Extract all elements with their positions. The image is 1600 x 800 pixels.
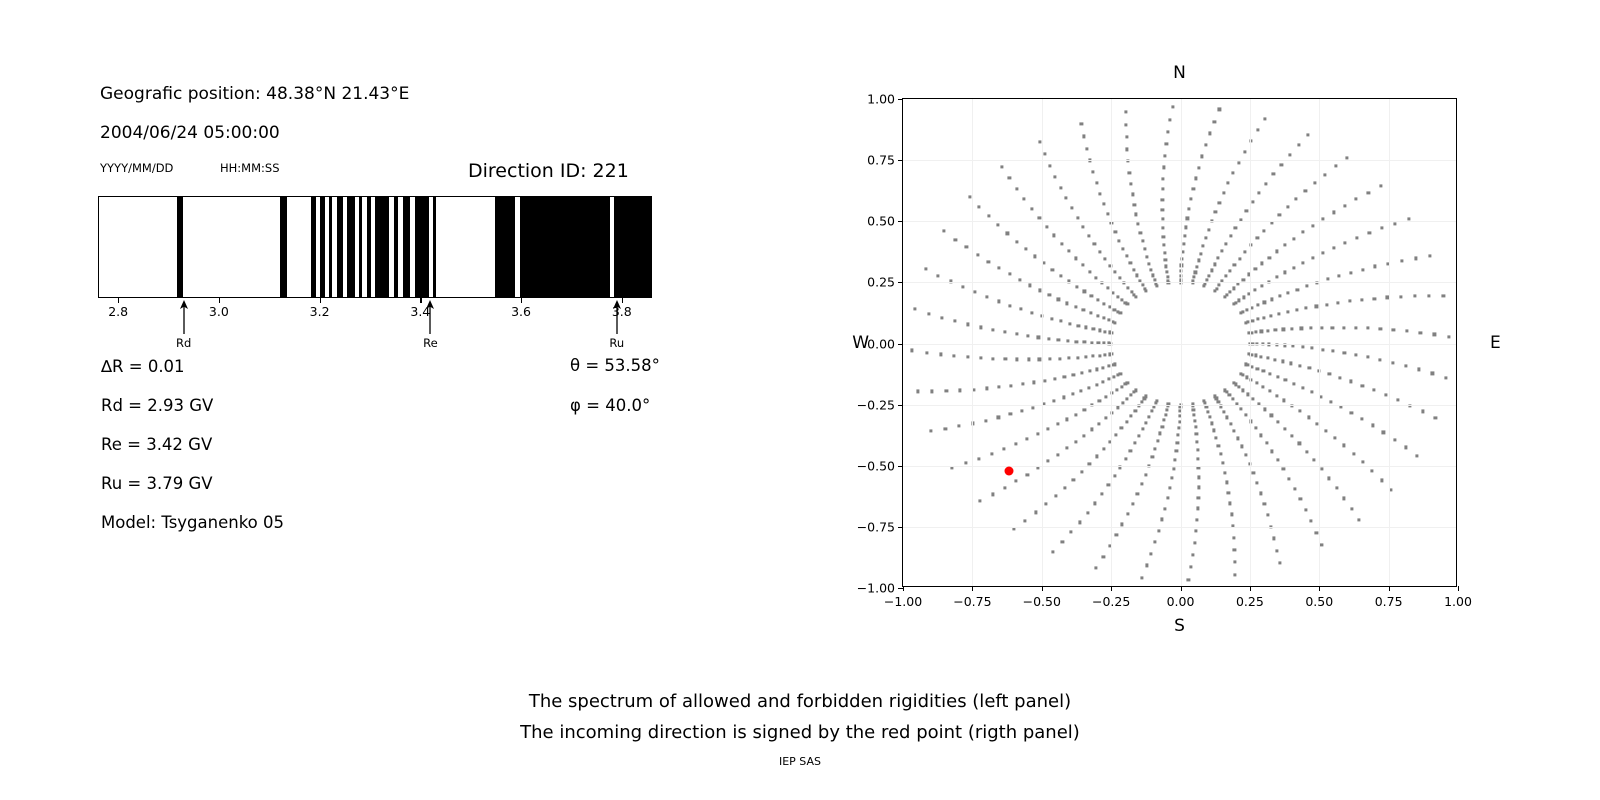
direction-point bbox=[1305, 307, 1308, 310]
grid-line-horizontal bbox=[903, 466, 1456, 467]
direction-point bbox=[1278, 295, 1281, 298]
direction-point bbox=[1004, 358, 1007, 361]
direction-point bbox=[1442, 294, 1445, 297]
direction-point bbox=[1277, 312, 1280, 315]
direction-point bbox=[1301, 261, 1304, 264]
direction-point bbox=[1208, 416, 1211, 419]
direction-point bbox=[1282, 468, 1285, 471]
direction-point bbox=[1372, 388, 1375, 391]
direction-point bbox=[1140, 400, 1143, 403]
direction-point bbox=[1254, 427, 1257, 430]
direction-point bbox=[1166, 131, 1169, 134]
direction-point bbox=[1304, 189, 1307, 192]
direction-point bbox=[1150, 268, 1153, 271]
direction-point bbox=[1278, 214, 1281, 217]
direction-point bbox=[1162, 244, 1165, 247]
forbidden-band bbox=[433, 197, 436, 297]
grid-line-vertical bbox=[972, 99, 973, 586]
direction-point bbox=[1301, 386, 1304, 389]
direction-point bbox=[1311, 256, 1314, 259]
direction-point bbox=[1143, 287, 1146, 290]
direction-point bbox=[1097, 422, 1100, 425]
direction-point bbox=[1165, 408, 1168, 411]
direction-point bbox=[1104, 330, 1107, 333]
forbidden-band bbox=[495, 197, 515, 297]
direction-point bbox=[913, 308, 916, 311]
direction-point bbox=[1166, 497, 1169, 500]
grid-line-vertical bbox=[1111, 99, 1112, 586]
direction-point bbox=[1241, 374, 1244, 377]
direction-point bbox=[1324, 429, 1327, 432]
direction-point bbox=[1133, 203, 1136, 206]
direction-point bbox=[1021, 409, 1024, 412]
direction-point bbox=[1243, 251, 1246, 254]
direction-point bbox=[1298, 442, 1301, 445]
direction-point bbox=[1103, 302, 1106, 305]
direction-point bbox=[1311, 347, 1314, 350]
direction-point bbox=[1379, 358, 1382, 361]
direction-point bbox=[1019, 308, 1022, 311]
direction-point bbox=[1038, 358, 1041, 361]
direction-point bbox=[1233, 574, 1236, 577]
direction-point bbox=[1268, 389, 1271, 392]
direction-point bbox=[1371, 469, 1374, 472]
direction-map-panel: N S W E −1.00−0.75−0.50−0.250.000.250.50… bbox=[820, 40, 1520, 660]
direction-point bbox=[1270, 414, 1273, 417]
direction-point bbox=[1087, 234, 1090, 237]
direction-point bbox=[931, 390, 934, 393]
direction-point bbox=[1056, 453, 1059, 456]
direction-point bbox=[911, 349, 914, 352]
direction-point bbox=[924, 268, 927, 271]
direction-point bbox=[1400, 259, 1403, 262]
direction-point bbox=[1095, 455, 1098, 458]
direction-point bbox=[997, 416, 1000, 419]
direction-point bbox=[1215, 287, 1218, 290]
direction-point bbox=[1018, 278, 1021, 281]
direction-point bbox=[1070, 530, 1073, 533]
direction-point bbox=[985, 295, 988, 298]
direction-point bbox=[1348, 300, 1351, 303]
direction-point bbox=[985, 387, 988, 390]
grid-line-vertical bbox=[1042, 99, 1043, 586]
direction-point bbox=[1099, 192, 1102, 195]
direction-point bbox=[1256, 318, 1259, 321]
direction-point bbox=[1033, 255, 1036, 258]
direction-point bbox=[1258, 191, 1261, 194]
direction-point bbox=[1320, 543, 1323, 546]
direction-point bbox=[1301, 346, 1304, 349]
forbidden-band bbox=[614, 197, 652, 297]
direction-point bbox=[1066, 418, 1069, 421]
direction-point bbox=[1102, 366, 1105, 369]
direction-point bbox=[1283, 271, 1286, 274]
direction-point bbox=[1380, 227, 1383, 230]
direction-point bbox=[1282, 328, 1285, 331]
direction-point bbox=[1038, 141, 1041, 144]
direction-point bbox=[1124, 457, 1127, 460]
direction-point bbox=[1195, 440, 1198, 443]
x-axis-tick bbox=[903, 586, 904, 591]
direction-point bbox=[1194, 529, 1197, 532]
direction-point bbox=[1276, 420, 1279, 423]
direction-point bbox=[1165, 143, 1168, 146]
direction-point bbox=[1343, 351, 1346, 354]
direction-point bbox=[1125, 136, 1128, 139]
direction-point bbox=[1232, 536, 1235, 539]
direction-point bbox=[1295, 309, 1298, 312]
direction-point bbox=[1016, 358, 1019, 361]
direction-point bbox=[1334, 436, 1337, 439]
direction-point bbox=[1195, 433, 1198, 436]
direction-point bbox=[1107, 483, 1110, 486]
direction-point bbox=[1056, 423, 1059, 426]
direction-point bbox=[1260, 434, 1263, 437]
direction-point bbox=[1010, 384, 1013, 387]
y-axis-tick bbox=[898, 99, 903, 100]
direction-point bbox=[1091, 355, 1094, 358]
date-format-hint: YYYY/MM/DD bbox=[100, 161, 173, 175]
direction-point bbox=[1141, 283, 1144, 286]
direction-point bbox=[1177, 434, 1180, 437]
direction-point bbox=[998, 386, 1001, 389]
direction-point bbox=[1130, 415, 1133, 418]
direction-point bbox=[1088, 370, 1091, 373]
direction-point bbox=[1391, 361, 1394, 364]
direction-point bbox=[1350, 411, 1353, 414]
direction-point bbox=[1114, 230, 1117, 233]
direction-point bbox=[1300, 327, 1303, 330]
direction-point bbox=[1296, 288, 1299, 291]
direction-point bbox=[1305, 450, 1308, 453]
param-phi: φ = 40.0° bbox=[570, 396, 650, 415]
direction-point bbox=[1014, 443, 1017, 446]
x-axis-tick-label: 0.25 bbox=[1236, 594, 1264, 609]
direction-point bbox=[940, 316, 943, 319]
direction-point bbox=[1089, 312, 1092, 315]
direction-point bbox=[1043, 379, 1046, 382]
direction-point bbox=[1135, 213, 1138, 216]
direction-point bbox=[1212, 429, 1215, 432]
direction-point bbox=[945, 389, 948, 392]
direction-point bbox=[1015, 187, 1018, 190]
direction-point bbox=[979, 357, 982, 360]
direction-point bbox=[1339, 405, 1342, 408]
x-axis-tick bbox=[1042, 586, 1043, 591]
compass-north-label: N bbox=[1173, 63, 1186, 83]
direction-point bbox=[1131, 502, 1134, 505]
direction-point bbox=[1445, 376, 1448, 379]
direction-point bbox=[1006, 232, 1009, 235]
direction-point bbox=[1368, 231, 1371, 234]
direction-point bbox=[1256, 236, 1259, 239]
direction-point bbox=[1269, 372, 1272, 375]
direction-point bbox=[1332, 349, 1335, 352]
direction-point bbox=[1192, 276, 1195, 279]
direction-point bbox=[1140, 483, 1143, 486]
direction-point bbox=[965, 246, 968, 249]
grid-line-horizontal bbox=[903, 221, 1456, 222]
direction-point bbox=[1230, 513, 1233, 516]
direction-point bbox=[1066, 302, 1069, 305]
direction-point bbox=[1261, 385, 1264, 388]
direction-point bbox=[1256, 129, 1259, 132]
direction-point bbox=[1045, 225, 1048, 228]
direction-point bbox=[1253, 289, 1256, 292]
direction-point bbox=[1213, 120, 1216, 123]
direction-point bbox=[1428, 255, 1431, 258]
direction-point bbox=[1032, 406, 1035, 409]
direction-point bbox=[1215, 436, 1218, 439]
direction-point bbox=[1161, 188, 1164, 191]
direction-point bbox=[1321, 348, 1324, 351]
grid-line-vertical bbox=[1250, 99, 1251, 586]
direction-point bbox=[1197, 457, 1200, 460]
direction-point bbox=[1321, 218, 1324, 221]
direction-point bbox=[1154, 540, 1157, 543]
direction-point bbox=[1244, 453, 1247, 456]
direction-point bbox=[1343, 444, 1346, 447]
direction-point bbox=[954, 320, 957, 323]
direction-point bbox=[1176, 441, 1179, 444]
direction-point bbox=[1067, 250, 1070, 253]
direction-point bbox=[1311, 224, 1314, 227]
direction-point bbox=[1245, 308, 1248, 311]
direction-point bbox=[1254, 268, 1257, 271]
direction-point bbox=[1260, 330, 1263, 333]
x-axis-tick bbox=[1319, 586, 1320, 591]
direction-point bbox=[1350, 507, 1353, 510]
direction-point bbox=[1275, 549, 1278, 552]
direction-point bbox=[1057, 298, 1060, 301]
direction-point bbox=[944, 427, 947, 430]
direction-point bbox=[967, 323, 970, 326]
direction-point bbox=[1337, 274, 1340, 277]
direction-point bbox=[1072, 478, 1075, 481]
direction-point bbox=[1175, 449, 1178, 452]
direction-point bbox=[1125, 255, 1128, 258]
direction-point bbox=[1361, 268, 1364, 271]
direction-point bbox=[927, 312, 930, 315]
x-axis-tick bbox=[1389, 586, 1390, 591]
direction-point bbox=[1280, 163, 1283, 166]
axis-tick bbox=[521, 298, 522, 303]
direction-point bbox=[1263, 229, 1266, 232]
direction-point bbox=[1349, 271, 1352, 274]
compass-south-label: S bbox=[1174, 616, 1185, 636]
y-axis-tick-label: 0.75 bbox=[867, 153, 895, 168]
direction-point bbox=[1217, 256, 1220, 259]
direction-point bbox=[1275, 276, 1278, 279]
direction-point bbox=[1404, 446, 1407, 449]
direction-point bbox=[1384, 393, 1387, 396]
direction-point bbox=[916, 390, 919, 393]
direction-point bbox=[1164, 265, 1167, 268]
direction-point bbox=[1447, 335, 1450, 338]
direction-point bbox=[1183, 234, 1186, 237]
direction-point bbox=[1104, 353, 1107, 356]
direction-point bbox=[1008, 304, 1011, 307]
direction-point bbox=[1233, 429, 1236, 432]
x-axis-tick bbox=[1250, 586, 1251, 591]
direction-point bbox=[1366, 355, 1369, 358]
direction-point bbox=[968, 195, 971, 198]
direction-point bbox=[1163, 507, 1166, 510]
direction-point bbox=[1038, 216, 1041, 219]
direction-point bbox=[1288, 477, 1291, 480]
x-axis-tick-label: −1.00 bbox=[884, 594, 922, 609]
direction-point bbox=[1245, 376, 1248, 379]
direction-point bbox=[1015, 480, 1018, 483]
direction-point bbox=[1281, 360, 1284, 363]
direction-point bbox=[1139, 231, 1142, 234]
direction-point bbox=[1308, 367, 1311, 370]
direction-point bbox=[1414, 257, 1417, 260]
direction-point bbox=[1036, 466, 1039, 469]
direction-point bbox=[1165, 271, 1168, 274]
axis-tick bbox=[320, 298, 321, 303]
direction-point bbox=[1187, 578, 1190, 581]
param-delta-r: ∆R = 0.01 bbox=[101, 357, 185, 376]
grid-line-horizontal bbox=[903, 160, 1456, 161]
direction-point bbox=[1034, 511, 1037, 514]
direction-point bbox=[1116, 388, 1119, 391]
direction-point bbox=[1274, 329, 1277, 332]
direction-point bbox=[1270, 314, 1273, 317]
direction-point bbox=[1098, 250, 1101, 253]
direction-point bbox=[1095, 566, 1098, 569]
direction-point bbox=[1116, 295, 1119, 298]
direction-point bbox=[1204, 143, 1207, 146]
direction-point bbox=[1361, 460, 1364, 463]
direction-point bbox=[1030, 207, 1033, 210]
direction-point bbox=[1197, 476, 1200, 479]
param-ru: Ru = 3.79 GV bbox=[101, 474, 213, 493]
direction-point bbox=[1082, 309, 1085, 312]
direction-point bbox=[1208, 132, 1211, 135]
param-theta: θ = 53.58° bbox=[570, 356, 660, 375]
direction-point bbox=[1048, 293, 1051, 296]
direction-point bbox=[1082, 135, 1085, 138]
direction-point bbox=[1130, 393, 1133, 396]
direction-point bbox=[1256, 304, 1259, 307]
direction-point bbox=[1184, 226, 1187, 229]
direction-point bbox=[1145, 255, 1148, 258]
direction-point bbox=[1098, 329, 1101, 332]
direction-point bbox=[987, 214, 990, 217]
direction-point bbox=[1245, 209, 1248, 212]
direction-point bbox=[1371, 424, 1374, 427]
direction-point bbox=[1100, 492, 1103, 495]
direction-point bbox=[1104, 416, 1107, 419]
direction-point bbox=[1228, 269, 1231, 272]
direction-point bbox=[1191, 553, 1194, 556]
direction-point bbox=[1404, 364, 1407, 367]
geographic-position-label: Geografic position: 48.38°N 21.43°E bbox=[100, 84, 409, 104]
direction-point bbox=[1047, 337, 1050, 340]
direction-point bbox=[1086, 511, 1089, 514]
forbidden-band bbox=[177, 197, 183, 297]
direction-point bbox=[1189, 566, 1192, 569]
direction-point bbox=[1354, 353, 1357, 356]
direction-point bbox=[1289, 362, 1292, 365]
direction-point bbox=[1117, 374, 1120, 377]
direction-point bbox=[1133, 293, 1136, 296]
direction-point bbox=[1153, 279, 1156, 282]
direction-point bbox=[1328, 373, 1331, 376]
direction-point bbox=[1244, 413, 1247, 416]
direction-point bbox=[1221, 462, 1224, 465]
direction-point bbox=[1088, 386, 1091, 389]
direction-point bbox=[1263, 502, 1266, 505]
y-axis-tick-label: −0.50 bbox=[857, 458, 895, 473]
direction-point bbox=[1343, 497, 1346, 500]
direction-point bbox=[1272, 173, 1275, 176]
direction-point bbox=[1036, 433, 1039, 436]
direction-point bbox=[1170, 477, 1173, 480]
direction-point bbox=[1305, 285, 1308, 288]
direction-point bbox=[991, 493, 994, 496]
direction-point bbox=[1266, 356, 1269, 359]
direction-point bbox=[992, 357, 995, 360]
direction-point bbox=[1292, 237, 1295, 240]
direction-point bbox=[1128, 171, 1131, 174]
direction-point bbox=[1292, 266, 1295, 269]
y-axis-tick-label: 0.25 bbox=[867, 275, 895, 290]
direction-point bbox=[1229, 422, 1232, 425]
direction-point bbox=[1194, 425, 1197, 428]
axis-tick-label: 3.0 bbox=[209, 304, 229, 319]
x-axis-tick-label: 0.75 bbox=[1375, 594, 1403, 609]
direction-point bbox=[1161, 227, 1164, 230]
direction-point bbox=[1182, 243, 1185, 246]
direction-point bbox=[1218, 201, 1221, 204]
direction-point bbox=[1360, 298, 1363, 301]
direction-point bbox=[1080, 389, 1083, 392]
y-axis-tick bbox=[898, 221, 903, 222]
direction-point bbox=[1379, 327, 1382, 330]
direction-point bbox=[1213, 263, 1216, 266]
forbidden-band bbox=[367, 197, 371, 297]
direction-point bbox=[1065, 197, 1068, 200]
direction-point bbox=[1028, 284, 1031, 287]
direction-point bbox=[1227, 491, 1230, 494]
direction-point bbox=[1196, 518, 1199, 521]
direction-point bbox=[1169, 118, 1172, 121]
direction-point bbox=[1396, 398, 1399, 401]
direction-point bbox=[1151, 274, 1154, 277]
direction-point bbox=[1104, 395, 1107, 398]
direction-point bbox=[1339, 376, 1342, 379]
direction-point bbox=[1255, 382, 1258, 385]
direction-point bbox=[1275, 250, 1278, 253]
direction-point bbox=[1085, 326, 1088, 329]
param-rd: Rd = 2.93 GV bbox=[101, 396, 213, 415]
direction-point bbox=[1276, 459, 1279, 462]
x-axis-tick bbox=[1111, 586, 1112, 591]
direction-point bbox=[1148, 415, 1151, 418]
direction-point bbox=[1043, 153, 1046, 156]
direction-point bbox=[1392, 328, 1395, 331]
direction-point bbox=[1307, 416, 1310, 419]
direction-point bbox=[1197, 486, 1200, 489]
direction-point bbox=[1047, 460, 1050, 463]
direction-point bbox=[1051, 268, 1054, 271]
direction-point bbox=[1293, 487, 1296, 490]
direction-point bbox=[1121, 247, 1124, 250]
direction-point bbox=[937, 274, 940, 277]
direction-point bbox=[1084, 355, 1087, 358]
